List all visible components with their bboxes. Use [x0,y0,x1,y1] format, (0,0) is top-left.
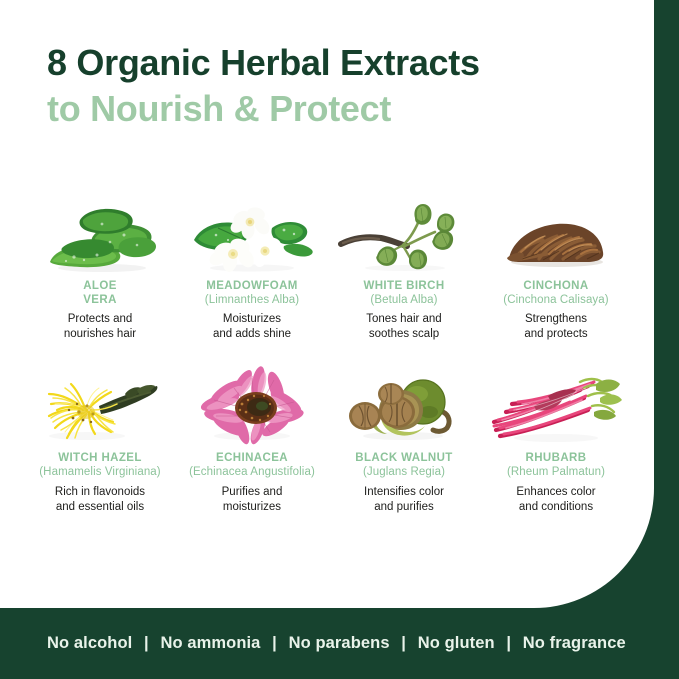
description-line-1: Strengthens [524,312,587,327]
ingredient-common-name: RHUBARB [507,452,605,466]
claim-separator: | [394,634,413,652]
ingredient-latin-name: (Hamamelis Virginiana) [39,466,161,480]
ingredient-card-black-walnut: BLACK WALNUT (Juglans Regia) Intensifies… [328,360,480,514]
ingredient-latin-name: (Cinchona Calisaya) [503,294,608,308]
ingredient-latin-name: (Rheum Palmatun) [507,466,605,480]
claim-no-parabens: No parabens [289,634,390,652]
ingredient-row-1: ALOE VERA Protects and nourishes hair [24,188,632,342]
ingredient-latin-name: (Limnanthes Alba) [205,294,299,308]
ingredient-latin-name: (Juglans Regia) [355,466,452,480]
ingredient-card-witch-hazel: WITCH HAZEL (Hamamelis Virginiana) Rich … [24,360,176,514]
ingredient-common-name: WHITE BIRCH [363,280,444,294]
ingredient-description: Purifies and moisturizes [222,485,283,515]
witch-hazel-flower-icon [30,360,170,446]
ingredient-grid: ALOE VERA Protects and nourishes hair [24,188,632,515]
ingredient-common-name: WITCH HAZEL [39,452,161,466]
ingredient-latin-name: (Echinacea Angustifolia) [189,466,315,480]
claim-no-alcohol: No alcohol [47,634,132,652]
description-line-2: nourishes hair [64,327,136,342]
ingredient-names: ALOE VERA [83,280,117,307]
ingredient-description: Enhances color and conditions [516,485,595,515]
description-line-1: Purifies and [222,485,283,500]
description-line-1: Enhances color [516,485,595,500]
ingredient-common-name: BLACK WALNUT [355,452,452,466]
title-line-2: to Nourish & Protect [47,89,480,129]
ingredient-names: ECHINACEA (Echinacea Angustifolia) [189,452,315,479]
ingredient-common-name: ALOE [83,280,117,294]
ingredient-card-white-birch: WHITE BIRCH (Betula Alba) Tones hair and… [328,188,480,342]
ingredient-description: Moisturizes and adds shine [213,312,291,342]
rhubarb-stalks-icon [486,360,626,446]
ingredient-common-name: MEADOWFOAM [205,280,299,294]
ingredient-names: BLACK WALNUT (Juglans Regia) [355,452,452,479]
description-line-1: Protects and [64,312,136,327]
claim-separator: | [499,634,518,652]
ingredient-card-meadowfoam: MEADOWFOAM (Limnanthes Alba) Moisturizes… [176,188,328,342]
ingredient-row-2: WITCH HAZEL (Hamamelis Virginiana) Rich … [24,360,632,514]
description-line-1: Rich in flavonoids [55,485,145,500]
description-line-2: and purifies [364,500,444,515]
ingredient-card-rhubarb: RHUBARB (Rheum Palmatun) Enhances color … [480,360,632,514]
ingredient-names: MEADOWFOAM (Limnanthes Alba) [205,280,299,307]
description-line-2: and conditions [516,500,595,515]
claims-footer: No alcohol | No ammonia | No parabens | … [0,608,679,679]
ingredient-names: WHITE BIRCH (Betula Alba) [363,280,444,307]
claim-no-gluten: No gluten [418,634,495,652]
description-line-2: and protects [524,327,587,342]
white-birch-branch-icon [334,188,474,274]
ingredient-description: Tones hair and soothes scalp [366,312,441,342]
ingredient-common-name: CINCHONA [503,280,608,294]
claim-no-ammonia: No ammonia [160,634,260,652]
description-line-2: soothes scalp [366,327,441,342]
claim-no-fragrance: No fragrance [523,634,626,652]
herbal-extracts-infographic: 8 Organic Herbal Extracts to Nourish & P… [0,0,679,679]
ingredient-common-name-line2: VERA [83,294,117,308]
ingredient-names: RHUBARB (Rheum Palmatun) [507,452,605,479]
ingredient-description: Strengthens and protects [524,312,587,342]
ingredient-latin-name: (Betula Alba) [363,294,444,308]
claim-separator: | [137,634,156,652]
meadowfoam-flower-icon [182,188,322,274]
ingredient-card-cinchona: CINCHONA (Cinchona Calisaya) Strengthens… [480,188,632,342]
footer-claims-list: No alcohol | No ammonia | No parabens | … [47,634,626,653]
ingredient-card-aloe-vera: ALOE VERA Protects and nourishes hair [24,188,176,342]
black-walnut-icon [334,360,474,446]
echinacea-flower-icon [182,360,322,446]
ingredient-names: CINCHONA (Cinchona Calisaya) [503,280,608,307]
ingredient-common-name: ECHINACEA [189,452,315,466]
description-line-2: and adds shine [213,327,291,342]
description-line-2: and essential oils [55,500,145,515]
description-line-2: moisturizes [222,500,283,515]
page-title: 8 Organic Herbal Extracts to Nourish & P… [47,44,480,129]
ingredient-names: WITCH HAZEL (Hamamelis Virginiana) [39,452,161,479]
ingredient-description: Rich in flavonoids and essential oils [55,485,145,515]
cinchona-bark-icon [486,188,626,274]
ingredient-card-echinacea: ECHINACEA (Echinacea Angustifolia) Purif… [176,360,328,514]
title-line-1: 8 Organic Herbal Extracts [47,44,480,83]
description-line-1: Moisturizes [213,312,291,327]
description-line-1: Tones hair and [366,312,441,327]
aloe-vera-icon [30,188,170,274]
claim-separator: | [265,634,284,652]
description-line-1: Intensifies color [364,485,444,500]
ingredient-description: Protects and nourishes hair [64,312,136,342]
ingredient-description: Intensifies color and purifies [364,485,444,515]
